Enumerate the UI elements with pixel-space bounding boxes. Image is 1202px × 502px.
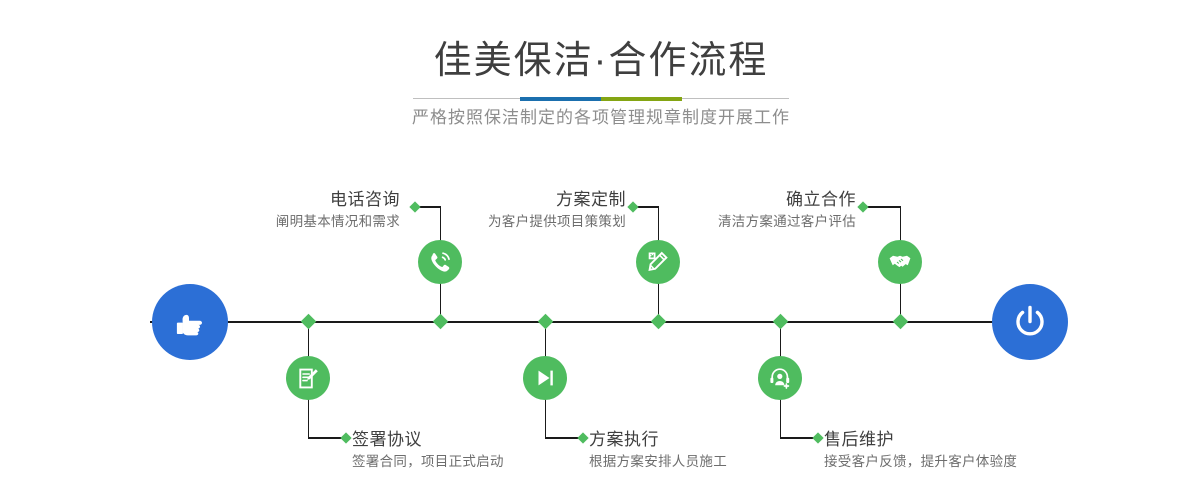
- timeline-start-badge: [152, 284, 228, 360]
- node-icon-step-4[interactable]: [523, 356, 567, 400]
- label-step-5: 确立合作 清洁方案通过客户评估: [630, 188, 856, 232]
- axis-marker-5: [772, 314, 788, 330]
- handshake-icon: [887, 249, 913, 275]
- axis-marker-2: [432, 314, 448, 330]
- label-step-5-title: 确立合作: [630, 188, 856, 211]
- axis-marker-4: [650, 314, 666, 330]
- timeline-end-badge: [992, 284, 1068, 360]
- pointing-hand-icon: [170, 302, 210, 342]
- label-marker-step-5: [857, 201, 868, 212]
- connector-step-5-horizontal: [866, 206, 900, 208]
- node-icon-step-5[interactable]: [878, 240, 922, 284]
- label-step-6-desc: 接受客户反馈，提升客户体验度: [824, 451, 1154, 472]
- document-edit-icon: [296, 366, 321, 391]
- power-icon: [1009, 301, 1051, 343]
- label-step-1: 电话咨询 阐明基本情况和需求: [150, 188, 400, 232]
- flow-diagram-page: 佳美保洁·合作流程 严格按照保洁制定的各项管理规章制度开展工作: [0, 0, 1202, 502]
- label-step-5-desc: 清洁方案通过客户评估: [630, 211, 856, 232]
- phone-call-icon: [427, 249, 453, 275]
- axis-marker-6: [892, 314, 908, 330]
- axis-marker-3: [537, 314, 553, 330]
- connector-step-2-horizontal: [308, 437, 344, 439]
- node-icon-step-6[interactable]: [758, 356, 802, 400]
- connector-step-6-horizontal: [780, 437, 816, 439]
- node-icon-step-2[interactable]: [286, 356, 330, 400]
- label-step-3-desc: 为客户提供项目策策划: [380, 211, 626, 232]
- timeline-axis: [150, 321, 1052, 323]
- title-divider: [413, 97, 789, 101]
- label-marker-step-2: [340, 432, 351, 443]
- node-icon-step-3[interactable]: [636, 240, 680, 284]
- label-step-1-desc: 阐明基本情况和需求: [150, 211, 400, 232]
- axis-marker-1: [301, 314, 317, 330]
- divider-segment-green: [601, 97, 682, 101]
- label-step-6-title: 售后维护: [824, 428, 1154, 451]
- page-title: 佳美保洁·合作流程: [0, 38, 1202, 84]
- label-step-1-title: 电话咨询: [150, 188, 400, 211]
- divider-segment-blue: [520, 97, 601, 101]
- connector-step-1-horizontal: [418, 206, 440, 208]
- node-icon-step-1[interactable]: [418, 240, 462, 284]
- connector-step-4-horizontal: [545, 437, 581, 439]
- pencil-ruler-icon: [645, 249, 671, 275]
- label-step-6: 售后维护 接受客户反馈，提升客户体验度: [824, 428, 1154, 472]
- page-subtitle: 严格按照保洁制定的各项管理规章制度开展工作: [0, 106, 1202, 130]
- support-agent-icon: [767, 365, 793, 391]
- play-next-icon: [532, 365, 558, 391]
- connector-step-3-horizontal: [636, 206, 658, 208]
